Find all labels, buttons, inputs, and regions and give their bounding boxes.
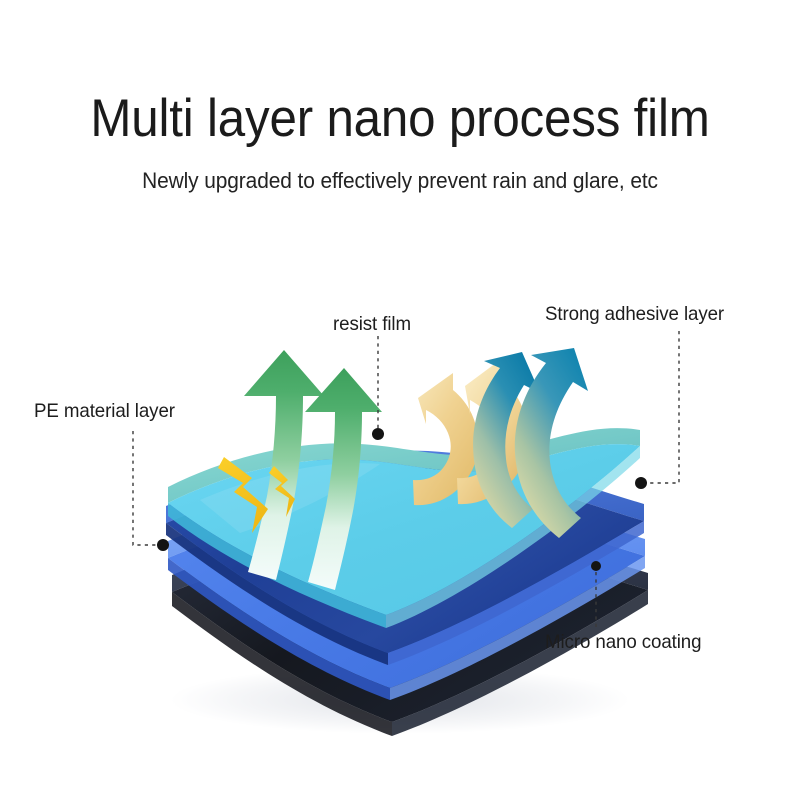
callout-label-micro-nano-coating: Micro nano coating <box>545 631 701 654</box>
callout-label-pe-material-layer: PE material layer <box>34 400 175 423</box>
anchor-dot-micro-nano-coating <box>591 561 601 571</box>
connector-pe-material-layer <box>133 431 163 545</box>
anchor-dot-strong-adhesive <box>635 477 647 489</box>
infographic-poster: Multi layer nano process film Newly upgr… <box>0 0 800 800</box>
anchor-dot-pe-material-layer <box>157 539 169 551</box>
connector-strong-adhesive <box>643 331 679 483</box>
callout-label-resist-film: resist film <box>333 313 411 336</box>
callout-label-strong-adhesive: Strong adhesive layer <box>545 303 724 326</box>
anchor-dot-resist-film <box>372 428 384 440</box>
